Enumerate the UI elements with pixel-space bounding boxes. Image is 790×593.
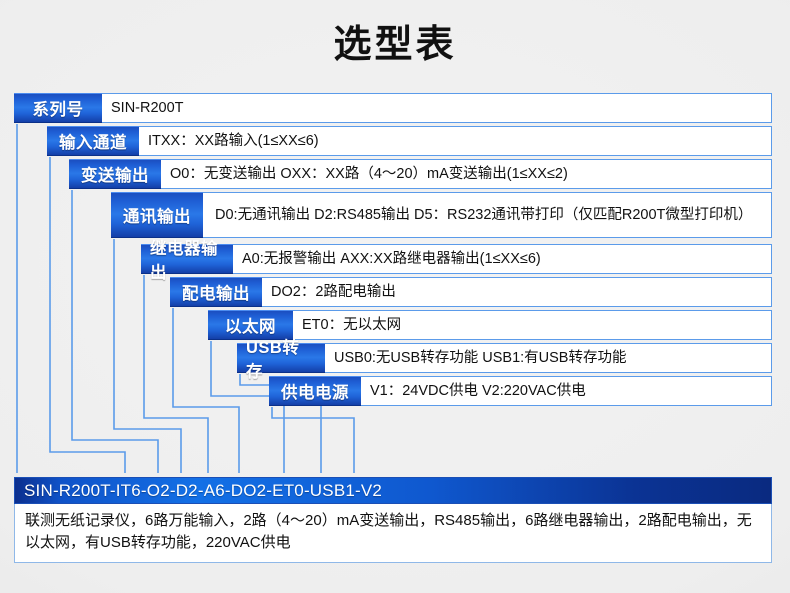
row-label: 系列号	[14, 93, 102, 123]
selection-row: 通讯输出D0:无通讯输出 D2:RS485输出 D5：RS232通讯带打印（仅匹…	[111, 192, 772, 238]
row-label: 通讯输出	[111, 192, 203, 238]
selection-row: 系列号SIN-R200T	[14, 93, 772, 123]
row-label: 变送输出	[69, 159, 161, 189]
summary-description: 联测无纸记录仪，6路万能输入，2路（4～20）mA变送输出，RS485输出，6路…	[14, 504, 772, 563]
row-label: 供电电源	[269, 376, 361, 406]
selection-row: 配电输出DO2：2路配电输出	[170, 277, 772, 307]
row-content: D0:无通讯输出 D2:RS485输出 D5：RS232通讯带打印（仅匹配R20…	[203, 192, 772, 238]
row-content: V1：24VDC供电 V2:220VAC供电	[361, 376, 772, 406]
row-content: USB0:无USB转存功能 USB1:有USB转存功能	[325, 343, 772, 373]
row-label: 输入通道	[47, 126, 139, 156]
selection-row: USB转存USB0:无USB转存功能 USB1:有USB转存功能	[237, 343, 772, 373]
summary-model-code: SIN-R200T-IT6-O2-D2-A6-DO2-ET0-USB1-V2	[14, 477, 772, 504]
row-content: ITXX：XX路输入(1≤XX≤6)	[139, 126, 772, 156]
connector-line	[272, 407, 354, 473]
row-label: 配电输出	[170, 277, 262, 307]
row-label: USB转存	[237, 343, 325, 373]
row-content: SIN-R200T	[102, 93, 772, 123]
summary-block: SIN-R200T-IT6-O2-D2-A6-DO2-ET0-USB1-V2 联…	[14, 477, 772, 563]
row-content: O0：无变送输出 OXX：XX路（4～20）mA变送输出(1≤XX≤2)	[161, 159, 772, 189]
row-content: A0:无报警输出 AXX:XX路继电器输出(1≤XX≤6)	[233, 244, 772, 274]
selection-row: 供电电源V1：24VDC供电 V2:220VAC供电	[269, 376, 772, 406]
row-content: ET0：无以太网	[293, 310, 772, 340]
row-label: 继电器输出	[141, 244, 233, 274]
selection-row: 变送输出O0：无变送输出 OXX：XX路（4～20）mA变送输出(1≤XX≤2)	[69, 159, 772, 189]
page-title: 选型表	[0, 22, 790, 68]
selection-row: 输入通道ITXX：XX路输入(1≤XX≤6)	[47, 126, 772, 156]
selection-row: 继电器输出A0:无报警输出 AXX:XX路继电器输出(1≤XX≤6)	[141, 244, 772, 274]
row-content: DO2：2路配电输出	[262, 277, 772, 307]
